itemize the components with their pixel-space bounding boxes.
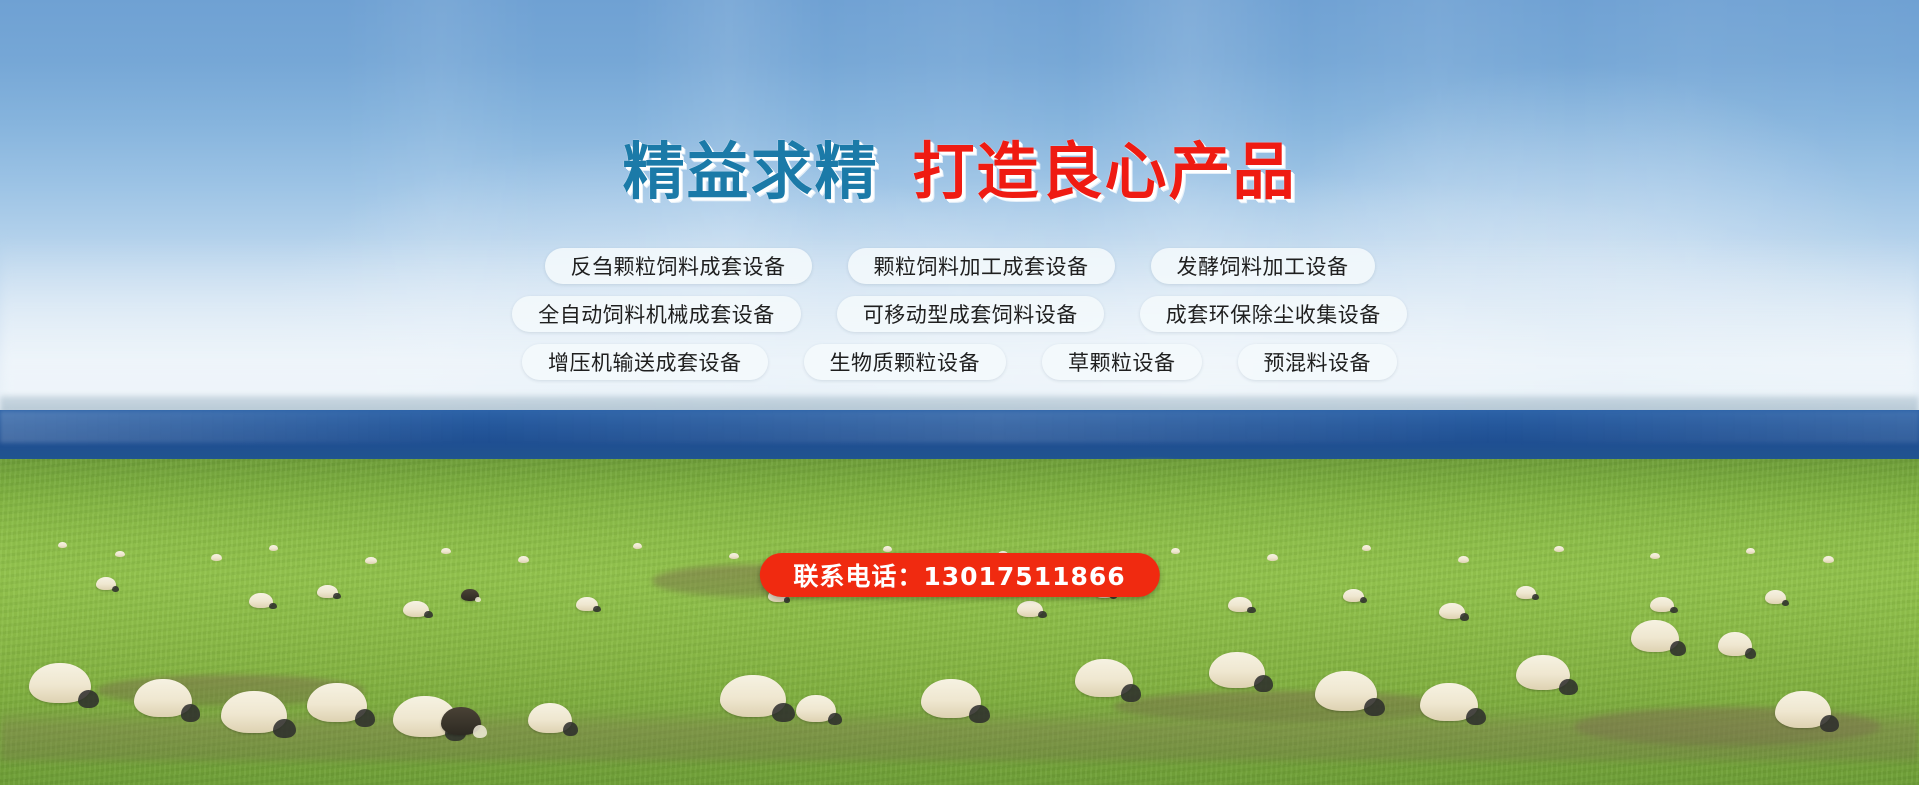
sheep xyxy=(1420,683,1478,721)
product-tag-list: 反刍颗粒饲料成套设备 颗粒饲料加工成套设备 发酵饲料加工设备 全自动饲料机械成套… xyxy=(0,248,1919,392)
headline-primary: 精益求精 xyxy=(622,135,878,208)
sheep xyxy=(1823,556,1834,563)
sheep xyxy=(1458,556,1469,563)
contact-phone-button[interactable]: 联系电话：13017511866 xyxy=(759,553,1159,597)
sheep xyxy=(921,679,981,718)
sheep xyxy=(403,601,429,617)
product-tag-ruminant-pellet-feed-line[interactable]: 反刍颗粒饲料成套设备 xyxy=(545,248,812,284)
sheep xyxy=(796,695,836,722)
product-tag-dust-collection-equipment[interactable]: 成套环保除尘收集设备 xyxy=(1140,296,1407,332)
sheep xyxy=(720,675,786,717)
sheep xyxy=(576,597,598,611)
sheep xyxy=(883,546,892,552)
product-tag-pellet-feed-processing-line[interactable]: 颗粒饲料加工成套设备 xyxy=(848,248,1115,284)
sheep xyxy=(249,593,273,608)
sheep xyxy=(221,691,287,733)
sheep xyxy=(1228,597,1252,612)
sheep xyxy=(1631,620,1679,652)
sheep xyxy=(1775,691,1831,728)
product-tag-mobile-feed-equipment[interactable]: 可移动型成套饲料设备 xyxy=(837,296,1104,332)
sheep xyxy=(1516,586,1536,599)
product-tag-fermented-feed-equipment[interactable]: 发酵饲料加工设备 xyxy=(1151,248,1375,284)
sheep xyxy=(518,556,529,563)
headline-secondary: 打造良心产品 xyxy=(913,135,1297,208)
sheep xyxy=(96,577,116,590)
sheep xyxy=(1746,548,1755,554)
sheep xyxy=(134,679,192,717)
product-tag-grass-pellet-equipment[interactable]: 草颗粒设备 xyxy=(1042,344,1202,380)
sheep xyxy=(1362,545,1371,551)
sheep xyxy=(1650,553,1660,559)
product-tag-fully-automatic-feed-machinery[interactable]: 全自动饲料机械成套设备 xyxy=(512,296,801,332)
product-tag-booster-conveying-equipment[interactable]: 增压机输送成套设备 xyxy=(522,344,768,380)
sheep xyxy=(1209,652,1265,688)
product-tag-row: 增压机输送成套设备 生物质颗粒设备 草颗粒设备 预混料设备 xyxy=(0,344,1919,380)
sheep xyxy=(211,554,222,561)
product-tag-row: 反刍颗粒饲料成套设备 颗粒饲料加工成套设备 发酵饲料加工设备 xyxy=(0,248,1919,284)
sheep xyxy=(1439,603,1465,619)
sheep xyxy=(269,545,278,551)
sheep xyxy=(1765,590,1786,604)
sheep xyxy=(729,553,739,559)
sheep xyxy=(58,542,67,548)
sheep xyxy=(528,703,572,733)
banner-headline: 精益求精打造良心产品 xyxy=(0,141,1919,203)
hero-banner: 精益求精打造良心产品 反刍颗粒饲料成套设备 颗粒饲料加工成套设备 发酵饲料加工设… xyxy=(0,0,1919,785)
sheep xyxy=(307,683,367,722)
lake-shimmer xyxy=(0,411,1919,442)
sheep xyxy=(317,585,338,598)
sheep xyxy=(461,589,479,601)
sheep xyxy=(1075,659,1133,697)
sheep xyxy=(1017,601,1043,617)
product-tag-biomass-pellet-equipment[interactable]: 生物质颗粒设备 xyxy=(804,344,1007,380)
sheep xyxy=(1315,671,1377,711)
sheep xyxy=(1343,589,1364,602)
sheep xyxy=(1267,554,1278,561)
product-tag-row: 全自动饲料机械成套设备 可移动型成套饲料设备 成套环保除尘收集设备 xyxy=(0,296,1919,332)
sheep xyxy=(1650,597,1674,612)
sheep xyxy=(365,557,377,564)
sheep xyxy=(1516,655,1570,690)
sheep xyxy=(441,548,451,554)
sheep xyxy=(1718,632,1752,656)
sheep xyxy=(1171,548,1180,554)
sheep xyxy=(29,663,91,703)
product-tag-premix-equipment[interactable]: 预混料设备 xyxy=(1238,344,1398,380)
sheep xyxy=(115,551,125,557)
